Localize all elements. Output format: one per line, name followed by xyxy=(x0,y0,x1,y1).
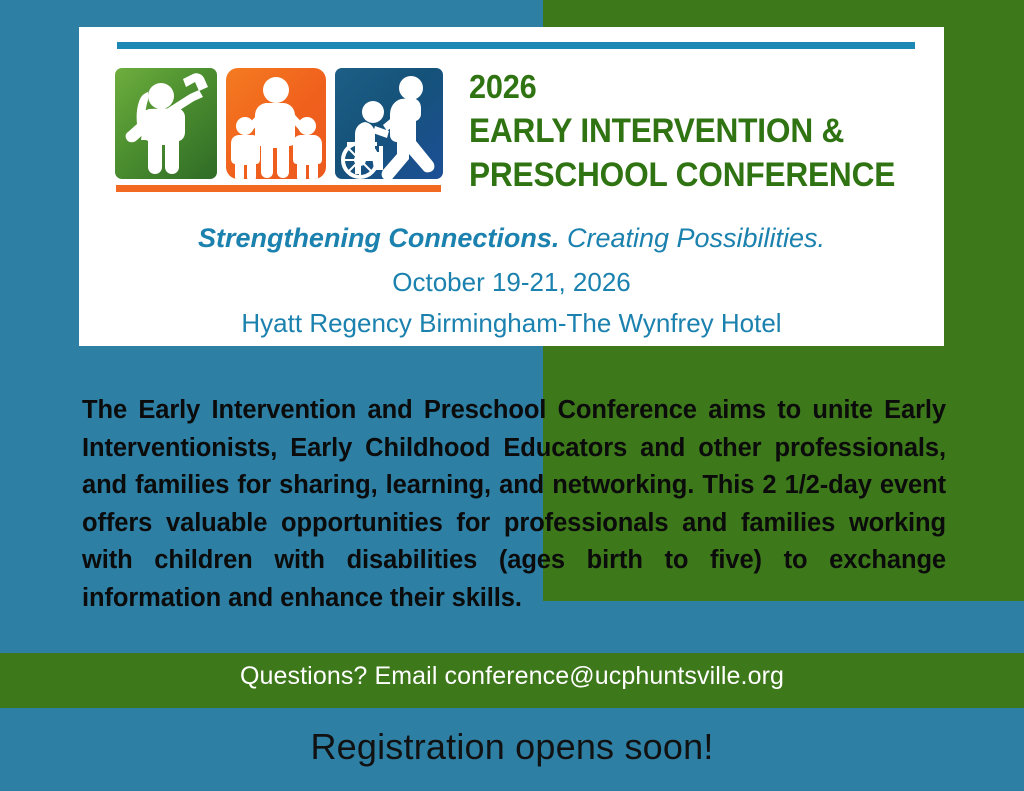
title-year: 2026 xyxy=(469,65,897,109)
family-panel-icon xyxy=(226,68,326,179)
description-paragraph: The Early Intervention and Preschool Con… xyxy=(82,392,946,617)
registration-notice: Registration opens soon! xyxy=(0,726,1024,768)
conference-logo xyxy=(115,68,443,179)
conference-venue: Hyatt Regency Birmingham-The Wynfrey Hot… xyxy=(79,308,944,339)
title-line-2: EARLY INTERVENTION & xyxy=(469,109,897,153)
orange-divider-rule xyxy=(116,185,441,192)
tagline: Strengthening Connections. Creating Poss… xyxy=(79,223,944,254)
child-waving-panel-icon xyxy=(115,68,217,179)
conference-flyer: 2026 EARLY INTERVENTION & PRESCHOOL CONF… xyxy=(0,0,1024,791)
questions-email-text: Questions? Email conference@ucphuntsvill… xyxy=(0,662,1024,691)
header-card: 2026 EARLY INTERVENTION & PRESCHOOL CONF… xyxy=(79,27,944,346)
conference-date: October 19-21, 2026 xyxy=(79,267,944,298)
tagline-light: Creating Possibilities. xyxy=(567,223,825,253)
wheelchair-panel-icon xyxy=(335,68,443,179)
conference-title-block: 2026 EARLY INTERVENTION & PRESCHOOL CONF… xyxy=(469,65,929,197)
title-line-3: PRESCHOOL CONFERENCE xyxy=(469,153,897,197)
blue-divider-rule xyxy=(117,42,915,49)
tagline-strong: Strengthening Connections. xyxy=(198,223,560,253)
